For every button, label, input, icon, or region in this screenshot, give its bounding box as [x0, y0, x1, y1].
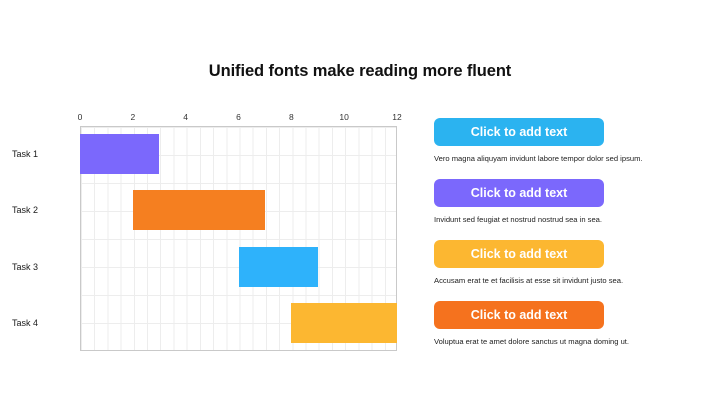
gantt-bar-task-1[interactable]	[80, 134, 159, 174]
x-tick-label: 6	[236, 112, 241, 122]
text-block-caption-2: Invidunt sed feugiat et nostrud nostrud …	[434, 215, 684, 224]
text-block-caption-1: Vero magna aliquyam invidunt labore temp…	[434, 154, 684, 163]
x-tick-label: 4	[183, 112, 188, 122]
x-tick-label: 8	[289, 112, 294, 122]
x-tick-label: 12	[392, 112, 401, 122]
task-label-3: Task 3	[12, 262, 38, 272]
text-block-caption-4: Voluptua erat te amet dolore sanctus ut …	[434, 337, 684, 346]
gantt-bar-task-3[interactable]	[239, 247, 318, 287]
gantt-bar-task-4[interactable]	[291, 303, 397, 343]
task-label-1: Task 1	[12, 149, 38, 159]
text-block-caption-3: Accusam erat te et facilisis at esse sit…	[434, 276, 684, 285]
click-to-add-text-button-1[interactable]: Click to add text	[434, 118, 604, 146]
text-blocks-panel: Click to add textVero magna aliquyam inv…	[434, 118, 684, 346]
gantt-bar-task-2[interactable]	[133, 190, 265, 230]
text-block-1: Click to add textVero magna aliquyam inv…	[434, 118, 684, 163]
text-block-3: Click to add textAccusam erat te et faci…	[434, 240, 684, 285]
task-label-2: Task 2	[12, 205, 38, 215]
click-to-add-text-button-4[interactable]: Click to add text	[434, 301, 604, 329]
text-block-4: Click to add textVoluptua erat te amet d…	[434, 301, 684, 346]
click-to-add-text-button-3[interactable]: Click to add text	[434, 240, 604, 268]
x-tick-label: 10	[339, 112, 348, 122]
slide-canvas: Unified fonts make reading more fluent 0…	[0, 0, 720, 405]
text-block-2: Click to add textInvidunt sed feugiat et…	[434, 179, 684, 224]
click-to-add-text-button-2[interactable]: Click to add text	[434, 179, 604, 207]
page-title: Unified fonts make reading more fluent	[0, 62, 720, 81]
x-tick-label: 0	[78, 112, 83, 122]
x-tick-label: 2	[130, 112, 135, 122]
gantt-chart: 024681012 Task 1Task 2Task 3Task 4	[38, 112, 406, 358]
task-label-4: Task 4	[12, 318, 38, 328]
